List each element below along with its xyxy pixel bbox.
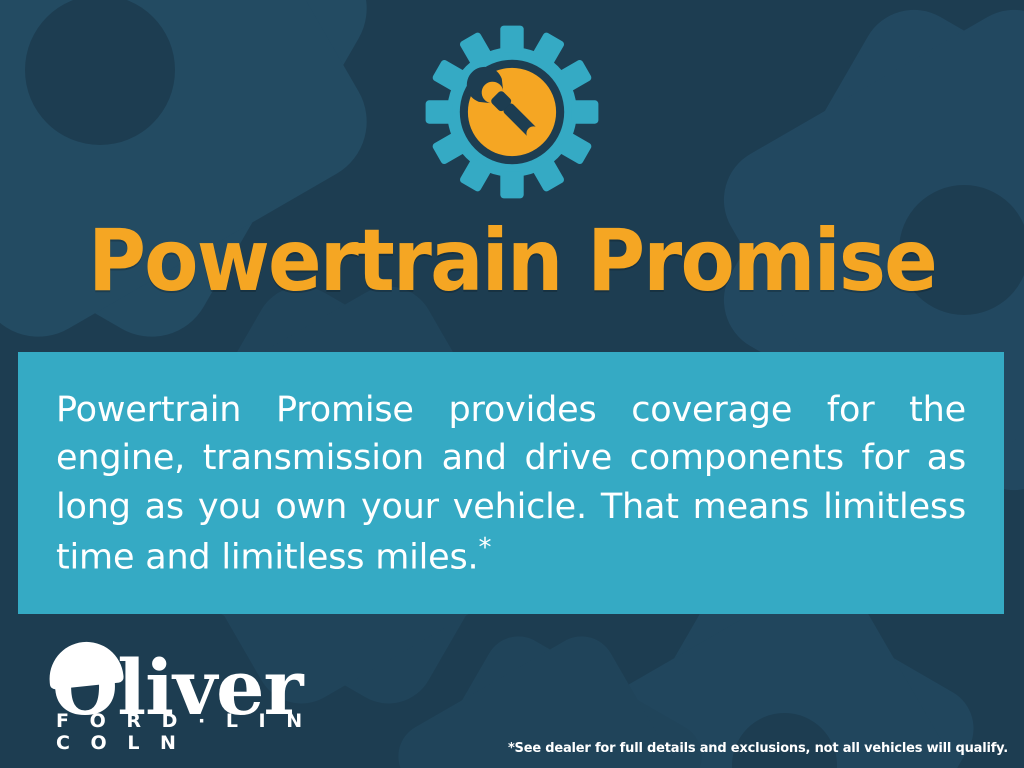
dealer-subtitle: F O R D · L I N C O L N	[56, 710, 328, 754]
asterisk-marker: *	[478, 533, 491, 563]
description-text: Powertrain Promise provides coverage for…	[56, 386, 966, 582]
description-panel: Powertrain Promise provides coverage for…	[18, 352, 1004, 614]
dealer-logo: Oliver F O R D · L I N C O L N	[28, 632, 328, 760]
disclaimer-text: *See dealer for full details and exclusi…	[508, 741, 1008, 756]
gear-wrench-icon	[422, 22, 602, 202]
promo-graphic: Powertrain Promise Powertrain Promise pr…	[0, 0, 1024, 768]
page-title: Powertrain Promise	[41, 218, 983, 304]
description-body: Powertrain Promise provides coverage for…	[56, 390, 966, 578]
